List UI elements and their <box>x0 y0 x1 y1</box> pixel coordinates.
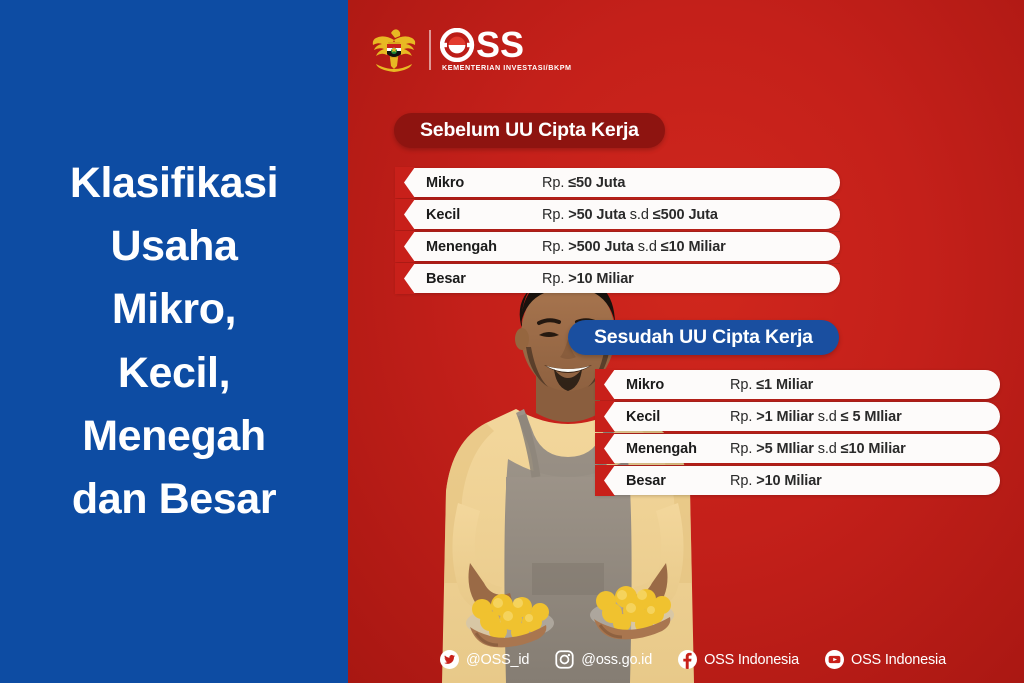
row-value-prefix: Rp. <box>542 271 564 287</box>
table-before-uu-cipta-kerja: Mikro Rp. ≤50 Juta Kecil Rp. >50 Juta s.… <box>396 168 840 293</box>
row-value-separator: s.d <box>638 239 657 255</box>
row-value-separator: s.d <box>818 441 837 457</box>
row-value: Rp. >10 Miliar <box>542 271 634 287</box>
row-value-prefix: Rp. <box>730 473 752 489</box>
row-value-amount: >500 Juta <box>568 239 634 255</box>
social-handle: OSS Indonesia <box>704 652 799 668</box>
row-value: Rp. ≤50 Juta <box>542 175 625 191</box>
oss-wordmark-block: SS KEMENTERIAN INVESTASI/BKPM <box>440 28 572 72</box>
row-value-prefix: Rp. <box>730 441 752 457</box>
row-value-amount: ≤50 Juta <box>568 175 625 191</box>
twitter-icon <box>440 650 459 669</box>
table-row: Menengah Rp. >500 Juta s.d ≤10 Miliar <box>396 232 840 261</box>
row-label: Kecil <box>626 409 730 425</box>
row-value-prefix: Rp. <box>542 175 564 191</box>
garuda-pancasila-icon <box>368 24 420 76</box>
row-label: Besar <box>426 271 542 287</box>
row-value-amount: >50 Juta <box>568 207 626 223</box>
row-value-amount: >5 MIliar <box>756 441 814 457</box>
row-value: Rp. >50 Juta s.d ≤500 Juta <box>542 207 718 223</box>
row-value-amount: >10 Miliar <box>568 271 634 287</box>
row-value: Rp. ≤1 Miliar <box>730 377 813 393</box>
oss-logo-lockup: SS KEMENTERIAN INVESTASI/BKPM <box>368 24 572 76</box>
table-row: Besar Rp. >10 Miliar <box>596 466 1000 495</box>
social-handle: @oss.go.id <box>581 652 652 668</box>
row-value-amount2: ≤10 Miliar <box>841 441 906 457</box>
table-row: Mikro Rp. ≤1 Miliar <box>596 370 1000 399</box>
table-row: Kecil Rp. >1 Miliar s.d ≤ 5 MIliar <box>596 402 1000 431</box>
row-value-prefix: Rp. <box>542 239 564 255</box>
oss-logo-subtitle: KEMENTERIAN INVESTASI/BKPM <box>442 63 572 72</box>
infographic-poster: Klasifikasi Usaha Mikro, Kecil, Menegah … <box>0 0 1024 683</box>
svg-text:SS: SS <box>476 28 524 62</box>
row-value-prefix: Rp. <box>730 377 752 393</box>
social-item-youtube[interactable]: OSS Indonesia <box>825 650 946 669</box>
row-label: Mikro <box>626 377 730 393</box>
row-value-amount2: ≤ 5 MIliar <box>841 409 902 425</box>
social-item-twitter[interactable]: @OSS_id <box>440 650 529 669</box>
row-value: Rp. >1 Miliar s.d ≤ 5 MIliar <box>730 409 902 425</box>
youtube-icon <box>825 650 844 669</box>
row-label: Menengah <box>626 441 730 457</box>
row-value: Rp. >500 Juta s.d ≤10 Miliar <box>542 239 726 255</box>
section-badge-after: Sesudah UU Cipta Kerja <box>568 320 839 355</box>
row-value: Rp. >5 MIliar s.d ≤10 Miliar <box>730 441 906 457</box>
table-row: Kecil Rp. >50 Juta s.d ≤500 Juta <box>396 200 840 229</box>
table-after-uu-cipta-kerja: Mikro Rp. ≤1 Miliar Kecil Rp. >1 Miliar … <box>596 370 1000 495</box>
logo-divider <box>429 30 431 70</box>
title-panel: Klasifikasi Usaha Mikro, Kecil, Menegah … <box>0 0 348 683</box>
facebook-icon <box>678 650 697 669</box>
row-value-separator: s.d <box>630 207 649 223</box>
section-badge-before: Sebelum UU Cipta Kerja <box>394 113 665 148</box>
social-item-instagram[interactable]: @oss.go.id <box>555 650 652 669</box>
row-value-amount2: ≤500 Juta <box>653 207 718 223</box>
social-handle: OSS Indonesia <box>851 652 946 668</box>
social-handle: @OSS_id <box>466 652 529 668</box>
social-item-facebook[interactable]: OSS Indonesia <box>678 650 799 669</box>
row-value-prefix: Rp. <box>542 207 564 223</box>
oss-wordmark: SS <box>440 28 558 62</box>
row-value-amount2: ≤10 Miliar <box>661 239 726 255</box>
table-row: Mikro Rp. ≤50 Juta <box>396 168 840 197</box>
row-label: Kecil <box>426 207 542 223</box>
oss-letters-icon: SS <box>440 28 558 62</box>
page-title: Klasifikasi Usaha Mikro, Kecil, Menegah … <box>24 152 324 531</box>
row-value-amount: >10 Miliar <box>756 473 822 489</box>
table-row: Menengah Rp. >5 MIliar s.d ≤10 Miliar <box>596 434 1000 463</box>
row-label: Menengah <box>426 239 542 255</box>
row-value-prefix: Rp. <box>730 409 752 425</box>
table-row: Besar Rp. >10 Miliar <box>396 264 840 293</box>
row-value-amount: >1 Miliar <box>756 409 814 425</box>
instagram-icon <box>555 650 574 669</box>
social-media-bar: @OSS_id @oss.go.id OSS Indonesia OS <box>440 650 946 669</box>
row-value: Rp. >10 Miliar <box>730 473 822 489</box>
row-value-amount: ≤1 Miliar <box>756 377 813 393</box>
row-label: Besar <box>626 473 730 489</box>
row-value-separator: s.d <box>818 409 837 425</box>
row-label: Mikro <box>426 175 542 191</box>
